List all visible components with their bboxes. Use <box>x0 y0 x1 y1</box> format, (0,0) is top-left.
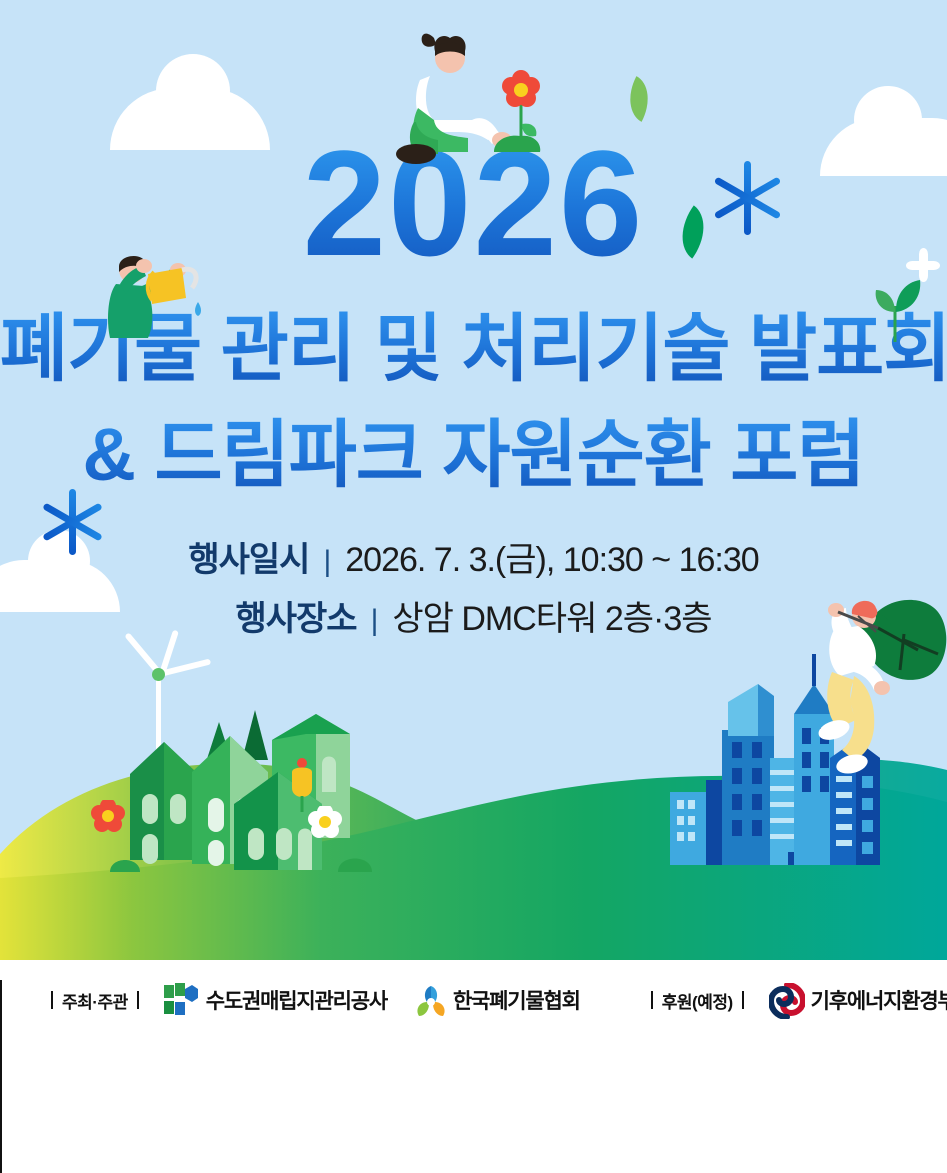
host-group: 주최·주관 수도권매립지관리공사 <box>42 983 580 1017</box>
divider-bar <box>51 991 53 1009</box>
sponsor-korea-waste-association: 한국폐기물협회 <box>415 984 580 1016</box>
sponsor-sl-corporation: 수도권매립지관리공사 <box>164 983 387 1017</box>
tulip-flower-icon <box>285 756 319 812</box>
sponsor-ministry-climate-energy-environment: 기후에너지환경부 <box>769 983 947 1017</box>
support-group: 후원(예정) 기후에너지환경부 <box>642 983 947 1017</box>
event-title-line-2: & 드림파크 자원순환 포럼 <box>0 412 947 498</box>
korean-government-taegeuk-logo-icon <box>769 983 803 1017</box>
separator-icon: | <box>323 545 331 579</box>
host-tag: 주최·주관 <box>42 988 148 1013</box>
event-poster: 2026 <box>0 0 947 960</box>
separator-icon: | <box>371 604 379 638</box>
divider-bar <box>137 991 139 1009</box>
support-tag: 후원(예정) <box>642 988 753 1013</box>
event-date-row: 행사일시 | 2026. 7. 3.(금), 10:30 ~ 16:30 <box>0 532 947 581</box>
divider-bar <box>742 991 744 1009</box>
sponsor-name: 한국폐기물협회 <box>453 985 580 1015</box>
sponsor-strip: 주최·주관 수도권매립지관리공사 <box>0 960 947 1040</box>
event-date-label: 행사일시 <box>188 532 309 581</box>
sl-corporation-logo-icon <box>164 983 198 1017</box>
poster-page: 2026 <box>0 0 947 1173</box>
person-planting-flower-illustration <box>390 28 560 164</box>
red-flower-icon <box>88 800 128 842</box>
village-houses-illustration <box>100 688 420 880</box>
sponsor-name: 기후에너지환경부 <box>811 985 947 1015</box>
event-venue-value: 상암 DMC타워 2층·3층 <box>392 591 711 640</box>
event-date-value: 2026. 7. 3.(금), 10:30 ~ 16:30 <box>345 532 758 581</box>
left-margin-rule <box>0 980 2 1173</box>
sprout-icon <box>862 272 932 344</box>
host-tag-label: 주최·주관 <box>62 988 128 1013</box>
white-daisy-icon <box>305 806 345 848</box>
person-trimming-tree-illustration <box>800 588 947 784</box>
event-venue-label: 행사장소 <box>235 591 356 640</box>
support-tag-label: 후원(예정) <box>662 988 733 1013</box>
sponsor-name: 수도권매립지관리공사 <box>206 985 387 1015</box>
korea-waste-association-logo-icon <box>415 984 445 1016</box>
person-watering-can-illustration <box>86 236 208 344</box>
divider-bar <box>651 991 653 1009</box>
